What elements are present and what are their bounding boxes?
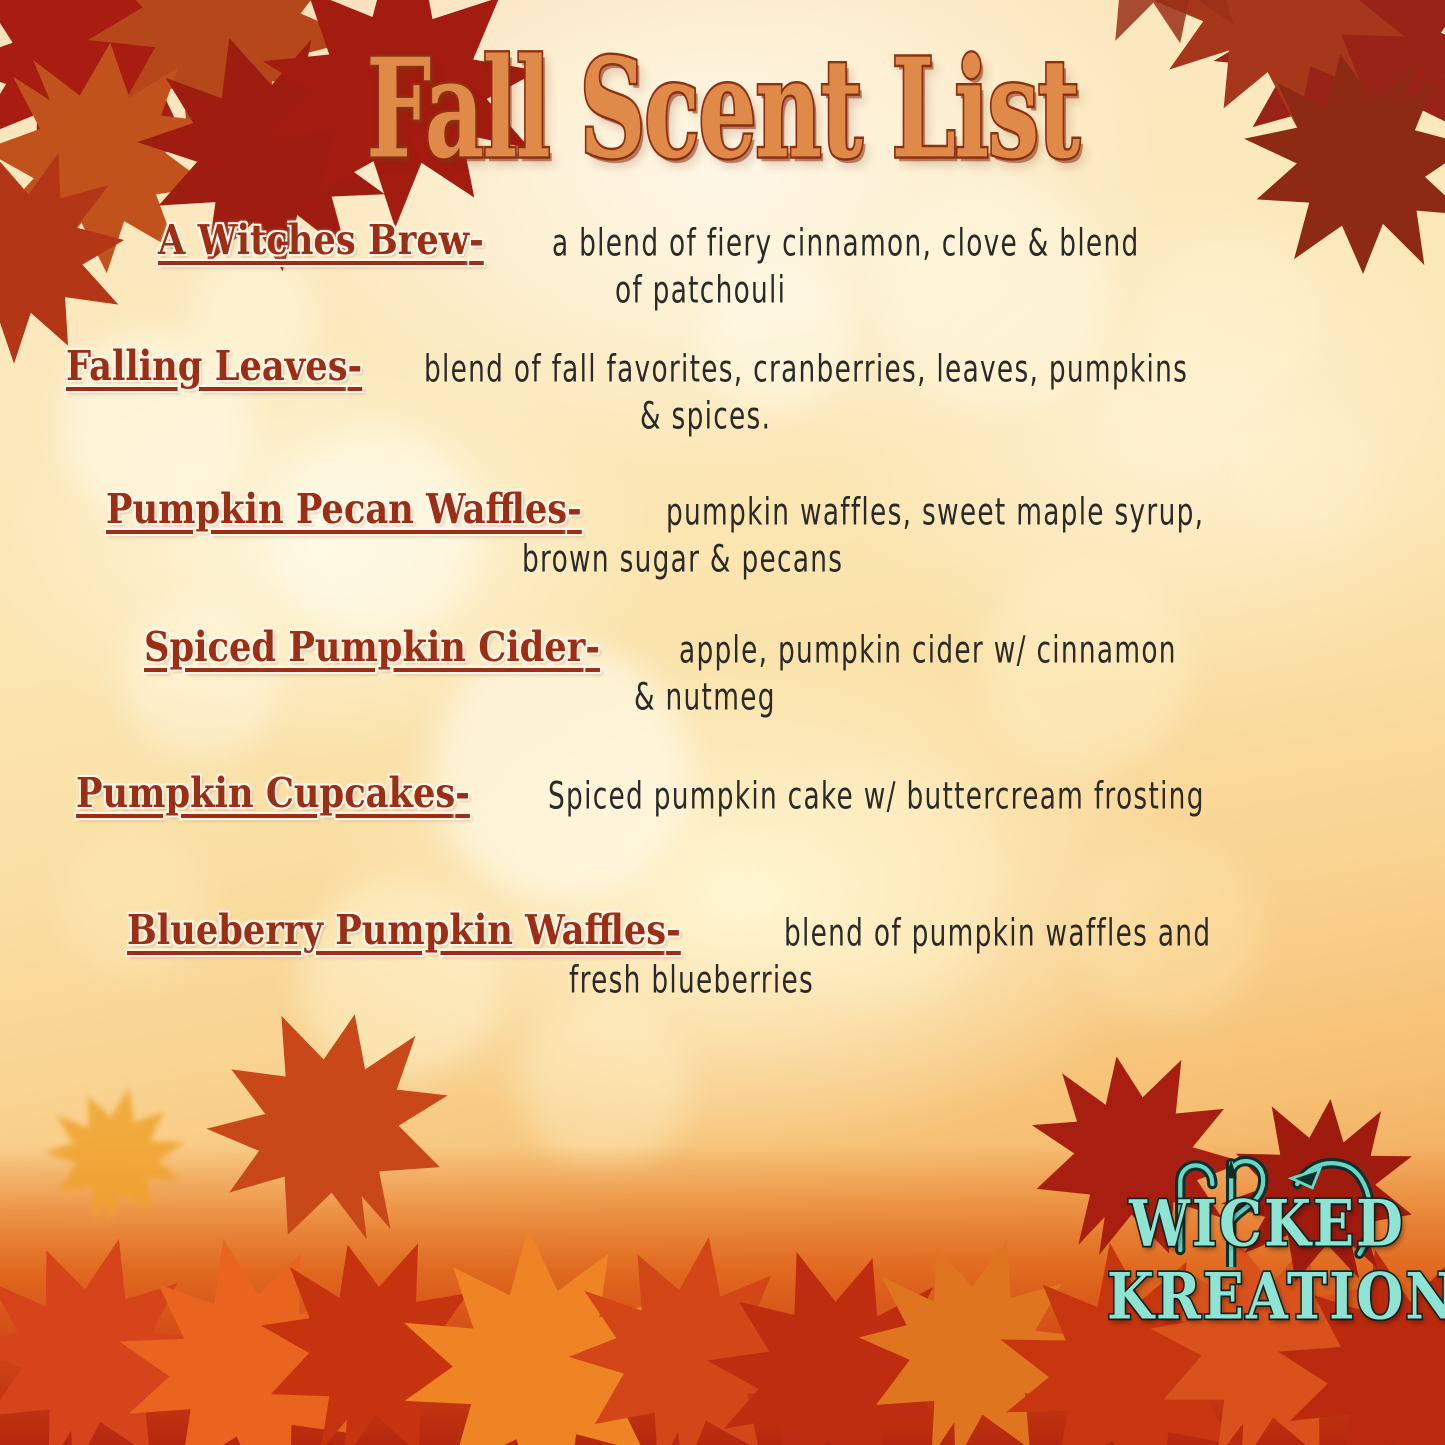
scent-name: Blueberry Pumpkin Waffles- — [127, 908, 681, 952]
scent-description-line: apple, pumpkin cider w/ cinnamon — [679, 624, 1177, 677]
scent-name: Spiced Pumpkin Cider- — [144, 625, 600, 669]
scent-description-line: of patchouli — [615, 264, 786, 317]
scent-description-line: blend of pumpkin waffles and — [784, 906, 1211, 959]
scent-description-line: Spiced pumpkin cake w/ buttercream frost… — [548, 770, 1205, 823]
scent-description-line: fresh blueberries — [569, 953, 814, 1006]
scent-entry: Falling Leaves- blend of fall favorites,… — [0, 344, 1445, 440]
brand-logo-text: WICKED KREATIONS — [1107, 1197, 1427, 1323]
scent-name: Pumpkin Cupcakes- — [76, 771, 470, 815]
scent-entry: Pumpkin Pecan Waffles- pumpkin waffles, … — [0, 487, 1445, 583]
poster-title-area: Fall Scent List — [0, 38, 1445, 156]
scent-list: A Witches Brew- a blend of fiery cinnamo… — [0, 218, 1445, 1003]
scent-description-line: pumpkin waffles, sweet maple syrup, — [666, 486, 1204, 539]
scent-entry: Blueberry Pumpkin Waffles- blend of pump… — [0, 908, 1445, 1004]
scent-description-line: a blend of fiery cinnamon, clove & blend — [552, 217, 1140, 270]
fall-scent-list-poster: Fall Scent List A Witches Brew- a blend … — [0, 0, 1445, 1445]
scent-description-line: brown sugar & pecans — [522, 533, 843, 586]
scent-name: Pumpkin Pecan Waffles- — [106, 487, 582, 531]
page-title: Fall Scent List — [366, 38, 1078, 181]
brand-logo[interactable]: WICKED KREATIONS — [1107, 1135, 1427, 1397]
scent-description-line: & spices. — [640, 389, 771, 442]
scent-entry: Spiced Pumpkin Cider- apple, pumpkin cid… — [0, 625, 1445, 721]
brand-name-line-1: WICKED — [1107, 1192, 1427, 1254]
brand-name-line-2: KREATIONS — [1107, 1265, 1427, 1327]
scent-name: A Witches Brew- — [158, 218, 484, 262]
scent-name: Falling Leaves- — [66, 344, 362, 388]
scent-description-line: & nutmeg — [634, 671, 776, 724]
scent-description-line: blend of fall favorites, cranberries, le… — [424, 342, 1188, 395]
scent-entry: Pumpkin Cupcakes- Spiced pumpkin cake w/… — [0, 771, 1445, 820]
scent-entry: A Witches Brew- a blend of fiery cinnamo… — [0, 218, 1445, 314]
